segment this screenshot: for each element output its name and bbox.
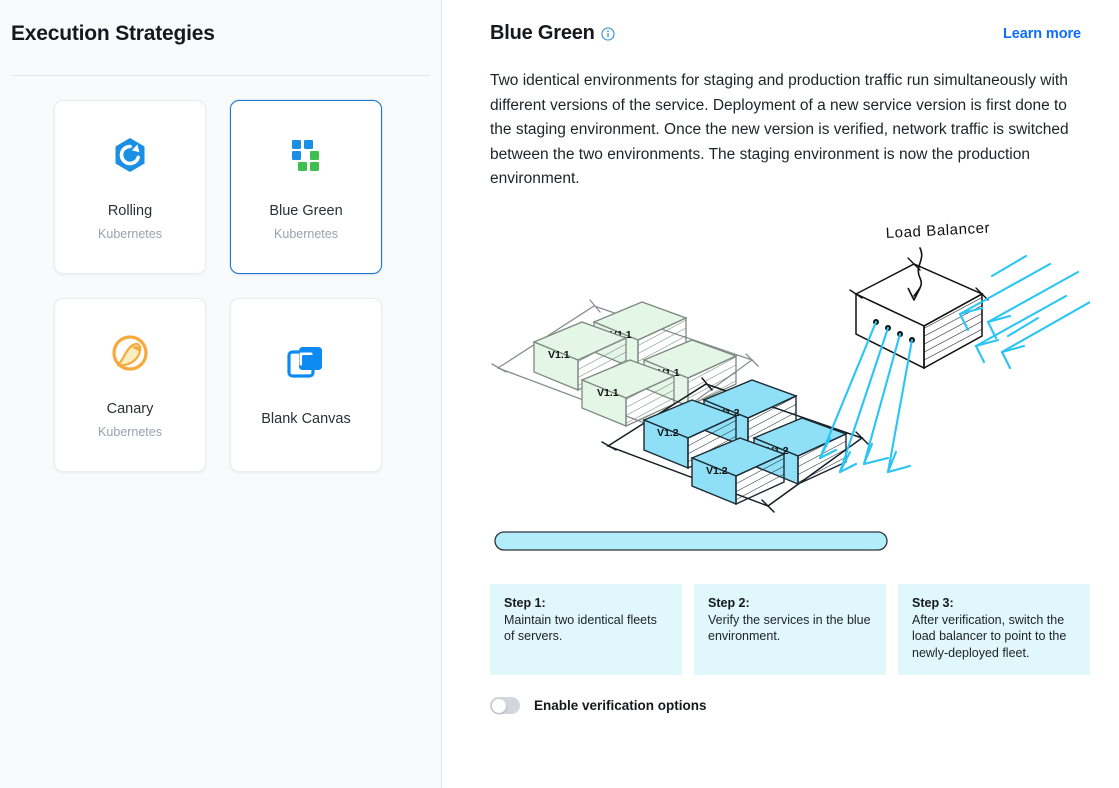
blue-green-illustration: V1.1 V1.1 V1.1: [490, 210, 1090, 570]
blue-green-grid-icon: [284, 133, 328, 177]
strategy-card-canary[interactable]: Canary Kubernetes: [54, 298, 206, 472]
svg-text:V1.2: V1.2: [657, 427, 679, 439]
toggle-knob: [492, 699, 506, 713]
page-title: Execution Strategies: [0, 0, 441, 46]
step-title: Step 3:: [912, 596, 1076, 610]
step-body: After verification, switch the load bala…: [912, 612, 1076, 662]
enable-verification-toggle[interactable]: [490, 697, 520, 714]
svg-text:V1.1: V1.1: [548, 349, 570, 361]
strategy-card-sublabel: Kubernetes: [98, 227, 162, 241]
strategy-card-label: Rolling: [108, 203, 152, 220]
detail-title-group: Blue Green: [490, 22, 615, 45]
svg-text:V1.1: V1.1: [597, 387, 619, 399]
step-card-2: Step 2: Verify the services in the blue …: [694, 584, 886, 676]
execution-strategies-screen: Execution Strategies Rolling Kubernetes: [0, 0, 1119, 788]
load-balancer-label: Load Balancer: [885, 219, 990, 241]
strategy-card-label: Canary: [107, 401, 154, 418]
learn-more-link[interactable]: Learn more: [1003, 26, 1081, 42]
step-body: Verify the services in the blue environm…: [708, 612, 872, 645]
strategy-card-grid: Rolling Kubernetes Blue Green Kubern: [0, 76, 441, 472]
info-circle-icon[interactable]: [601, 27, 615, 41]
argo-rollout-icon: [108, 133, 152, 177]
step-card-1: Step 1: Maintain two identical fleets of…: [490, 584, 682, 676]
blank-canvas-icon: [284, 341, 328, 385]
strategy-card-sublabel: Kubernetes: [98, 425, 162, 439]
steps-row: Step 1: Maintain two identical fleets of…: [490, 584, 1090, 676]
strategy-card-blank-canvas[interactable]: Blank Canvas: [230, 298, 382, 472]
strategy-card-label: Blue Green: [269, 203, 342, 220]
strategy-card-blue-green[interactable]: Blue Green Kubernetes: [230, 100, 382, 274]
step-title: Step 2:: [708, 596, 872, 610]
verification-toggle-row: Enable verification options: [490, 697, 1081, 714]
strategy-card-rolling[interactable]: Rolling Kubernetes: [54, 100, 206, 274]
strategy-card-label: Blank Canvas: [261, 411, 350, 428]
canary-bird-icon: [108, 331, 152, 375]
strategy-detail-panel: Blue Green Learn more Two identical envi…: [442, 0, 1119, 788]
enable-verification-label: Enable verification options: [534, 698, 707, 713]
step-title: Step 1:: [504, 596, 668, 610]
strategy-card-sublabel: Kubernetes: [274, 227, 338, 241]
strategies-sidebar: Execution Strategies Rolling Kubernetes: [0, 0, 442, 788]
strategy-description: Two identical environments for staging a…: [490, 69, 1081, 192]
detail-title: Blue Green: [490, 22, 595, 45]
svg-text:V1.2: V1.2: [706, 465, 728, 477]
step-body: Maintain two identical fleets of servers…: [504, 612, 668, 645]
detail-header: Blue Green Learn more: [490, 22, 1081, 45]
step-card-3: Step 3: After verification, switch the l…: [898, 584, 1090, 676]
traffic-bar: [495, 532, 887, 550]
